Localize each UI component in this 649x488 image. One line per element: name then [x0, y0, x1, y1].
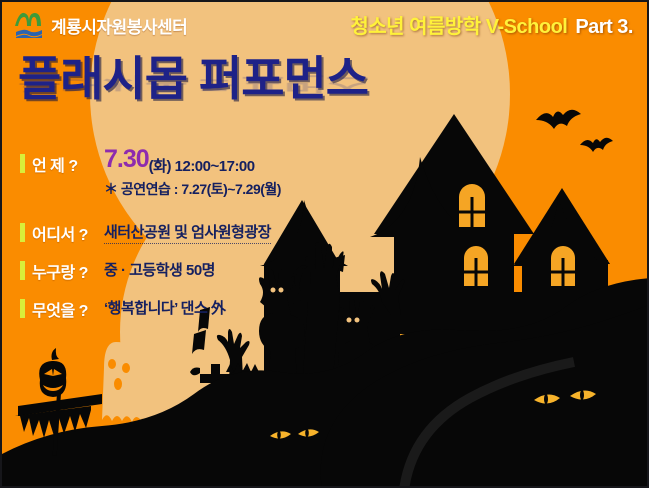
detail-row-who: 누구랑 ? 중 · 고등학생 50명 — [20, 259, 350, 283]
program-name: 청소년 여름방학 V-School — [350, 16, 567, 38]
label-bar — [20, 223, 25, 242]
detail-label-where: 어디서 ? — [32, 221, 104, 245]
detail-row-when: 언 제 ? 7.30(화) 12:00~17:00 — [20, 152, 350, 176]
detail-label-when: 언 제 ? — [32, 152, 104, 176]
program-part: Part 3. — [575, 16, 633, 38]
detail-value-where: 새터산공원 및 엄사원형광장 — [104, 221, 271, 244]
detail-row-what: 무엇을 ? ‘행복합니다’ 댄스 外 — [20, 297, 350, 321]
event-details: 언 제 ? 7.30(화) 12:00~17:00 ＊ 공연연습 : 7.27(… — [20, 152, 350, 327]
program-series-label: 청소년 여름방학 V-SchoolPart 3. — [350, 10, 633, 39]
gyeryong-city-volunteer-logo-icon — [12, 10, 46, 40]
rehearsal-note: ＊ 공연연습 : 7.27(토)~7.29(월) — [104, 179, 350, 199]
detail-value-what: ‘행복합니다’ 댄스 外 — [104, 297, 225, 318]
detail-row-where: 어디서 ? 새터산공원 및 엄사원형광장 — [20, 221, 350, 245]
event-date: 7.30 — [104, 145, 149, 173]
poster-canvas: 계룡시자원봉사센터 청소년 여름방학 V-SchoolPart 3. 플래시몹 … — [0, 0, 649, 488]
label-bar — [20, 154, 25, 173]
event-time: (화) 12:00~17:00 — [149, 158, 255, 175]
label-bar — [20, 299, 25, 318]
title-reflection: 플래시몹 퍼포먼스 — [18, 72, 368, 100]
organization-name: 계룡시자원봉사센터 — [51, 13, 187, 38]
label-bar — [20, 261, 25, 280]
pumpkin-scarecrow-icon — [15, 348, 102, 456]
detail-label-what: 무엇을 ? — [32, 297, 104, 321]
bat-icon — [536, 110, 613, 152]
detail-label-who: 누구랑 ? — [32, 259, 104, 283]
glowing-cat-eyes-icon — [534, 390, 596, 404]
detail-value-who: 중 · 고등학생 50명 — [104, 259, 215, 280]
